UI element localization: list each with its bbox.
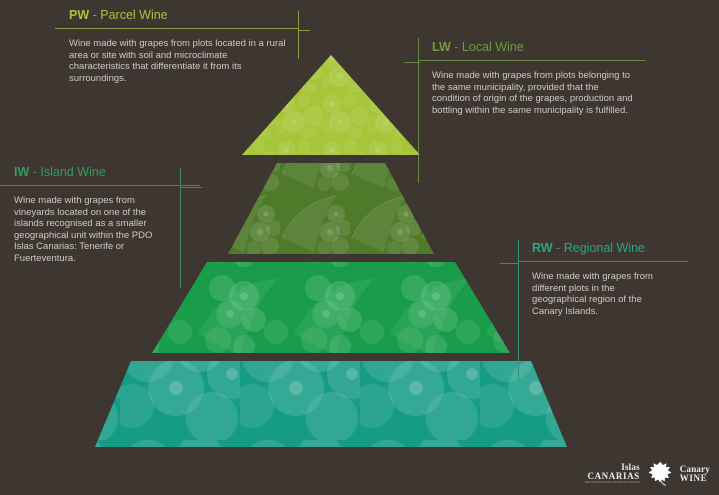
callout-lw-heading: LW - Local Wine [418, 40, 646, 60]
connector-line-lw-horizontal [404, 62, 420, 63]
connector-line-iw-horizontal [180, 187, 202, 188]
callout-iw-body: Wine made with grapes from vineyards loc… [8, 186, 169, 265]
callout-rw-code: RW [532, 241, 553, 255]
logo-text-left: Islas CANARIAS DENOMINACION DE ORIGEN PR… [585, 463, 640, 485]
callout-iw-title: Island Wine [40, 165, 105, 179]
callout-local-wine: LW - Local Wine Wine made with grapes fr… [418, 40, 646, 116]
callout-rw-heading: RW - Regional Wine [518, 241, 688, 261]
callout-lw-title: Local Wine [462, 40, 524, 54]
callout-lw-dash: - [451, 40, 462, 54]
callout-iw-dash: - [29, 165, 40, 179]
connector-line-pw-vertical [298, 11, 299, 59]
callout-lw-body: Wine made with grapes from plots belongi… [418, 61, 638, 116]
callout-parcel-wine: PW - Parcel Wine Wine made with grapes f… [55, 8, 298, 84]
callout-island-wine: IW - Island Wine Wine made with grapes f… [8, 165, 180, 265]
callout-pw-dash: - [89, 8, 100, 22]
logo: Islas CANARIAS DENOMINACION DE ORIGEN PR… [585, 459, 710, 489]
callout-iw-code: IW [14, 165, 29, 179]
connector-line-iw-vertical [180, 168, 181, 288]
logo-text-right: Canary WINE [680, 465, 710, 483]
logo-subtitle: DENOMINACION DE ORIGEN PROTEGIDA [585, 482, 640, 485]
callout-rw-dash: - [553, 241, 564, 255]
callout-pw-title: Parcel Wine [100, 8, 167, 22]
canary-islands-leaf-icon [645, 459, 675, 489]
pyramid-tier-local-wine [228, 163, 436, 255]
infographic-canvas: PW - Parcel Wine Wine made with grapes f… [0, 0, 719, 495]
callout-iw-heading: IW - Island Wine [8, 165, 180, 185]
callout-lw-code: LW [432, 40, 451, 54]
callout-rw-body: Wine made with grapes from different plo… [518, 262, 660, 317]
logo-wine-label: WINE [680, 474, 710, 483]
callout-regional-wine: RW - Regional Wine Wine made with grapes… [518, 241, 688, 317]
connector-line-pw-horizontal [298, 30, 310, 31]
pyramid-tier-regional-wine [95, 361, 569, 449]
connector-line-rw-horizontal [500, 263, 518, 264]
logo-canarias-label: CANARIAS [585, 472, 640, 481]
callout-pw-body: Wine made with grapes from plots located… [55, 29, 287, 84]
callout-rw-title: Regional Wine [564, 241, 645, 255]
callout-pw-code: PW [69, 8, 89, 22]
pyramid-tier-island-wine [152, 262, 512, 354]
callout-pw-heading: PW - Parcel Wine [55, 8, 298, 28]
